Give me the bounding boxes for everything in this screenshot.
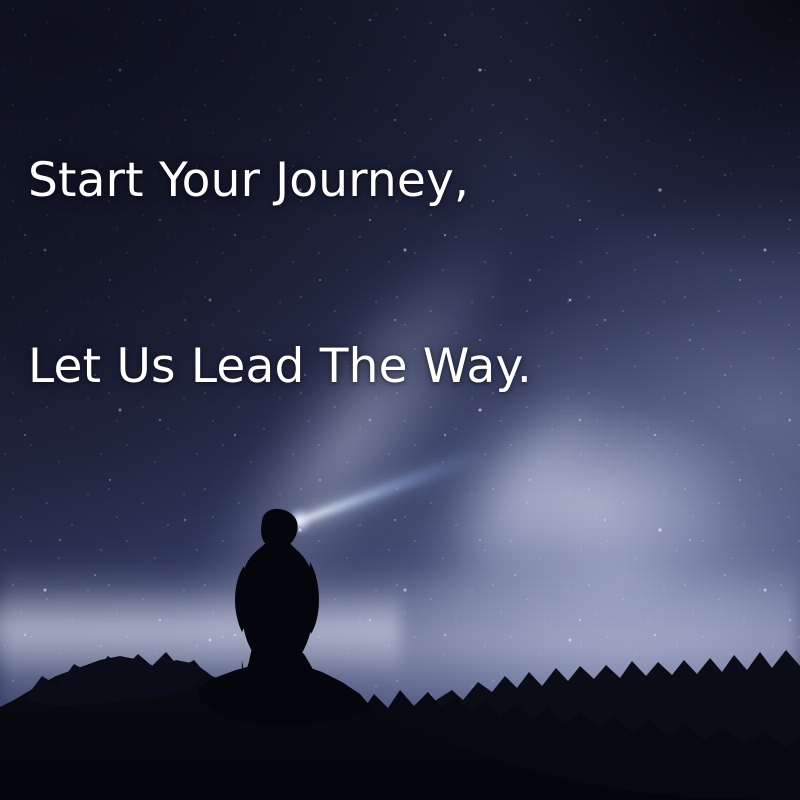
banner-canvas: Start Your Journey, Let Us Lead The Way. [0,0,800,800]
headline-line-2: Let Us Lead The Way. [28,336,532,398]
headline-line-1: Start Your Journey, [28,150,532,212]
headline: Start Your Journey, Let Us Lead The Way. [28,26,532,522]
